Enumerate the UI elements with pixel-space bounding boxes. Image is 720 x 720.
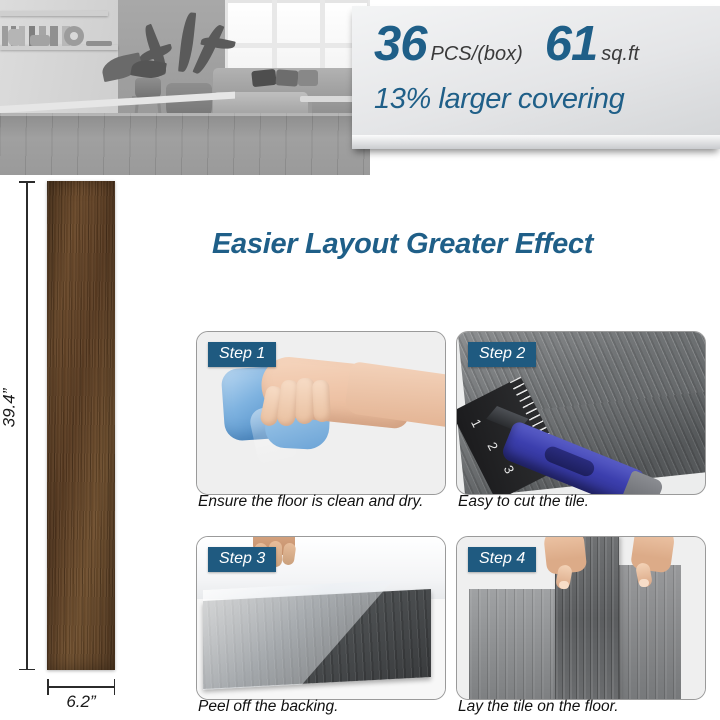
step-item: Step 4 Lay the tile on the floor. <box>456 536 704 716</box>
installed-plank <box>469 589 555 700</box>
banner-bottom-edge <box>352 135 720 149</box>
ring-sculpture <box>64 26 84 46</box>
ruler-mark: 2 <box>484 440 501 453</box>
step-3-caption: Peel off the backing. <box>198 698 338 716</box>
step-1-caption: Ensure the floor is clean and dry. <box>198 493 423 511</box>
step-1-badge: Step 1 <box>208 342 276 367</box>
product-plank <box>47 181 115 670</box>
coverage-value: 61 <box>545 20 598 69</box>
height-dimension-line <box>26 181 28 670</box>
spec-banner: 36 PCS/(box) 61 sq.ft 13% larger coverin… <box>352 6 720 149</box>
pieces-unit: PCS/(box) <box>431 43 523 66</box>
step-2-caption: Easy to cut the tile. <box>458 493 589 511</box>
steps-grid: Step 1 Ensure the floor is clean and dry… <box>196 331 704 716</box>
throw-pillow <box>298 70 318 86</box>
shelf-decor <box>6 22 116 46</box>
room-scene-photo <box>0 0 370 175</box>
bowl <box>30 35 50 46</box>
coverage-unit: sq.ft <box>601 43 639 66</box>
book-stack <box>86 41 112 46</box>
step-item: 1 2 3 Step 2 Easy to cut the tile. <box>456 331 704 511</box>
step-4-card: Step 4 <box>456 536 706 700</box>
installed-plank <box>619 565 681 700</box>
step-1-card: Step 1 <box>196 331 446 495</box>
step-2-badge: Step 2 <box>468 342 536 367</box>
step-item: Step 3 Peel off the backing. <box>196 536 444 716</box>
knife-slider <box>542 444 596 478</box>
throw-pillow <box>251 69 277 87</box>
throw-pillow <box>275 69 298 86</box>
vase-tall <box>8 29 22 46</box>
step-item: Step 1 Ensure the floor is clean and dry… <box>196 331 444 511</box>
room-floor <box>0 113 370 175</box>
wall-shelf-top <box>0 11 108 16</box>
fingernail <box>639 579 649 587</box>
page-title: Easier Layout Greater Effect <box>212 228 593 261</box>
pieces-count: 36 <box>374 20 427 69</box>
height-dimension-label: 39.4” <box>0 389 19 428</box>
spec-row: 36 PCS/(box) 61 sq.ft <box>374 20 704 69</box>
banner-subtitle: 13% larger covering <box>374 83 704 116</box>
step-3-card: Step 3 <box>196 536 446 700</box>
fingernail <box>559 581 569 589</box>
wood-grain-texture <box>47 181 115 670</box>
width-dimension-line <box>47 686 115 688</box>
ruler-mark: 1 <box>468 417 485 430</box>
step-4-caption: Lay the tile on the floor. <box>458 698 619 716</box>
step-3-badge: Step 3 <box>208 547 276 572</box>
step-2-card: 1 2 3 Step 2 <box>456 331 706 495</box>
ruler-mark: 3 <box>501 463 518 476</box>
width-dimension-label: 6.2” <box>47 692 115 712</box>
step-4-badge: Step 4 <box>468 547 536 572</box>
finger <box>312 380 331 423</box>
